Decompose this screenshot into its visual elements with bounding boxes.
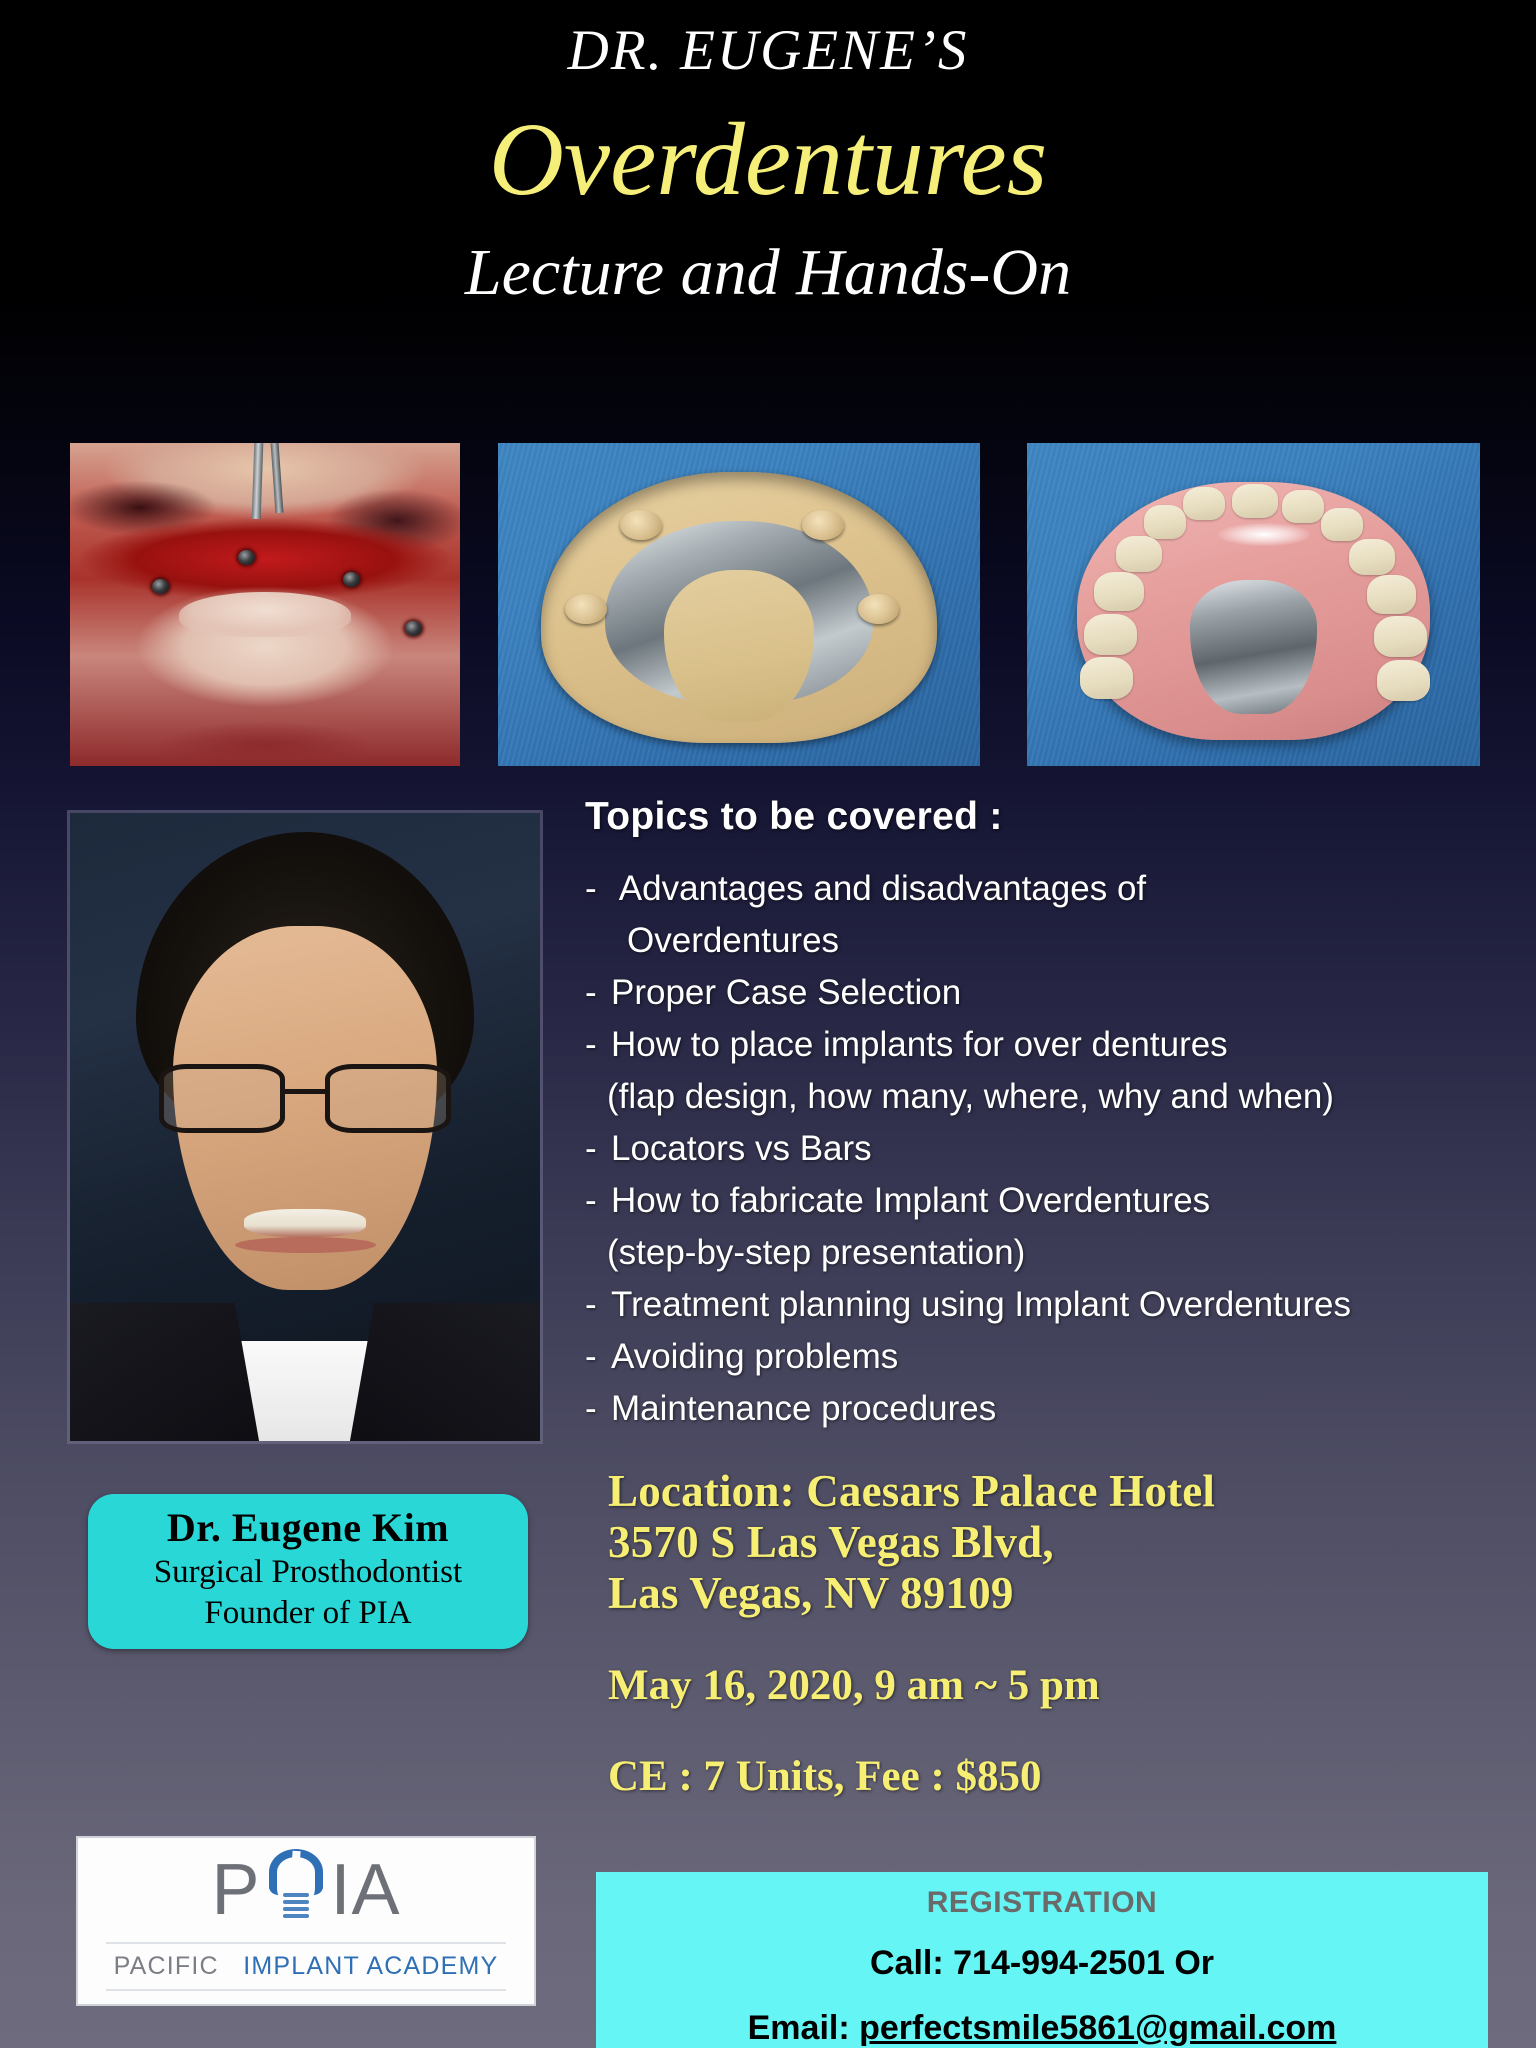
- ce-and-fee: CE : 7 Units, Fee : $850: [608, 1752, 1508, 1801]
- topic-dash: -: [585, 1019, 611, 1071]
- logo-letters-ia: IA: [331, 1854, 401, 1926]
- denture-tooth: [1094, 572, 1143, 611]
- topics-heading: Topics to be covered :: [585, 795, 1505, 839]
- denture-tooth: [1080, 657, 1133, 698]
- topic-label: Locators vs Bars: [611, 1129, 872, 1168]
- topic-dash: -: [585, 967, 611, 1019]
- topic-dash: -: [585, 1175, 611, 1227]
- denture-tooth: [1367, 575, 1416, 614]
- topic-label: Avoiding problems: [611, 1337, 898, 1376]
- implant-head-icon: [343, 572, 360, 587]
- topic-item: Overdentures: [585, 915, 1505, 967]
- implant-head-icon: [238, 550, 255, 565]
- jacket-left: [70, 1303, 262, 1441]
- overdenture-acrylic-base: [1077, 482, 1430, 740]
- blue-drape-background: [498, 443, 980, 766]
- locator-abutment-icon: [858, 594, 899, 624]
- cast-lingual-area: [664, 570, 814, 722]
- denture-tooth: [1084, 614, 1137, 655]
- pia-logo: P IA PACIFIC IMPLANT ACADEMY: [76, 1836, 536, 2006]
- locator-abutment-icon: [620, 510, 661, 540]
- location-line-3: Las Vegas, NV 89109: [608, 1568, 1508, 1619]
- or-label: Or: [1165, 1944, 1214, 1982]
- call-label: Call:: [870, 1944, 953, 1982]
- retractor-instrument-icon: [270, 443, 283, 513]
- retractor-instrument-icon: [252, 443, 264, 519]
- blue-drape-background: [1027, 443, 1480, 766]
- denture-tooth: [1232, 484, 1278, 518]
- topic-dash: -: [585, 863, 611, 915]
- surgical-photo-content: [70, 443, 460, 766]
- overdenture-metal-framework: [1190, 580, 1317, 714]
- topic-label: (step-by-step presentation): [607, 1233, 1025, 1272]
- logo-letter-p: P: [211, 1854, 260, 1926]
- logo-divider-bottom: [106, 1989, 506, 1991]
- topic-item: (step-by-step presentation): [585, 1227, 1505, 1279]
- event-datetime: May 16, 2020, 9 am ~ 5 pm: [608, 1661, 1508, 1710]
- email-label: Email:: [748, 2009, 859, 2047]
- finished-implant-overdenture-photo: [1027, 443, 1480, 766]
- presenter-name: Dr. Eugene Kim: [88, 1504, 528, 1552]
- denture-tooth: [1321, 508, 1363, 542]
- topic-item: -Treatment planning using Implant Overde…: [585, 1279, 1505, 1331]
- logo-subtitle-pacific: PACIFIC: [114, 1952, 219, 1980]
- topic-label: Advantages and disadvantages of: [611, 869, 1146, 908]
- topic-label: How to fabricate Implant Overdentures: [611, 1181, 1210, 1220]
- implant-head-icon: [405, 621, 422, 636]
- lens-left: [159, 1064, 284, 1133]
- flyer-poster: DR. EUGENE’S Overdentures Lecture and Ha…: [0, 0, 1536, 2048]
- registration-box: REGISTRATION Call: 714-994-2501 Or Email…: [596, 1872, 1488, 2048]
- logo-subtitle: PACIFIC IMPLANT ACADEMY: [78, 1952, 534, 1981]
- photo-glare: [1218, 523, 1310, 546]
- tooth-implant-icon: [265, 1849, 327, 1931]
- topic-dash: -: [585, 1279, 611, 1331]
- registration-phone-line: Call: 714-994-2501 Or: [596, 1944, 1488, 1983]
- topic-label: Overdentures: [627, 921, 839, 960]
- logo-divider: [106, 1942, 506, 1944]
- lower-lip: [235, 1237, 376, 1253]
- topic-dash: -: [585, 1123, 611, 1175]
- topic-label: How to place implants for over dentures: [611, 1025, 1228, 1064]
- registration-title: REGISTRATION: [596, 1872, 1488, 1920]
- denture-tooth: [1374, 616, 1427, 657]
- surgical-implant-placement-photo: [70, 443, 460, 766]
- page-title: Overdentures: [0, 105, 1536, 214]
- implant-screw-threads: [283, 1893, 309, 1927]
- jacket-right: [348, 1303, 540, 1441]
- glasses-bridge: [285, 1089, 326, 1094]
- logo-wordmark: P IA: [78, 1838, 534, 1942]
- denture-tooth: [1377, 660, 1430, 701]
- topic-label: Treatment planning using Implant Overden…: [611, 1285, 1351, 1324]
- tooth-notch: [291, 1851, 300, 1870]
- presenter-role: Founder of PIA: [88, 1593, 528, 1634]
- locator-abutment-icon: [802, 510, 843, 540]
- topic-label: Maintenance procedures: [611, 1389, 996, 1428]
- topic-dash: -: [585, 1331, 611, 1383]
- lens-right: [325, 1064, 450, 1133]
- topic-item: -Proper Case Selection: [585, 967, 1505, 1019]
- logo-subtitle-implant-academy: IMPLANT ACADEMY: [243, 1952, 498, 1980]
- registration-email-line: Email: perfectsmile5861@gmail.com: [596, 2009, 1488, 2048]
- denture-tooth: [1349, 539, 1395, 575]
- poster-header: DR. EUGENE’S Overdentures Lecture and Ha…: [0, 0, 1536, 306]
- location-line-1: Location: Caesars Palace Hotel: [608, 1466, 1508, 1517]
- portrait-background: [70, 813, 540, 1441]
- header-subtitle: Lecture and Hands-On: [0, 240, 1536, 306]
- dr-eugene-kim-portrait: [70, 813, 540, 1441]
- eyeglasses-icon: [159, 1064, 450, 1133]
- smile-region: [244, 1209, 366, 1237]
- topic-item: -Locators vs Bars: [585, 1123, 1505, 1175]
- topic-item: (flap design, how many, where, why and w…: [585, 1071, 1505, 1123]
- event-details: Location: Caesars Palace Hotel 3570 S La…: [608, 1466, 1508, 1801]
- denture-tooth: [1183, 487, 1225, 521]
- presenter-title: Surgical Prosthodontist: [88, 1552, 528, 1593]
- phone-number[interactable]: 714-994-2501: [953, 1944, 1165, 1982]
- header-kicker: DR. EUGENE’S: [0, 22, 1536, 79]
- cast-with-metal-framework-photo: [498, 443, 980, 766]
- topic-label: Proper Case Selection: [611, 973, 961, 1012]
- denture-tooth: [1116, 536, 1162, 572]
- implant-head-icon: [152, 579, 169, 594]
- email-address[interactable]: perfectsmile5861@gmail.com: [859, 2009, 1336, 2047]
- topic-item: -Maintenance procedures: [585, 1383, 1505, 1435]
- location-line-2: 3570 S Las Vegas Blvd,: [608, 1517, 1508, 1568]
- topic-item: -Avoiding problems: [585, 1331, 1505, 1383]
- topic-dash: -: [585, 1383, 611, 1435]
- dental-cast: [541, 472, 936, 743]
- topic-item: - Advantages and disadvantages of: [585, 863, 1505, 915]
- denture-tooth: [1282, 490, 1324, 524]
- topic-label: (flap design, how many, where, why and w…: [607, 1077, 1334, 1116]
- presenter-badge: Dr. Eugene Kim Surgical Prosthodontist F…: [88, 1494, 528, 1649]
- alveolar-ridge-region: [179, 592, 351, 637]
- topic-item: -How to fabricate Implant Overdentures: [585, 1175, 1505, 1227]
- denture-tooth: [1144, 505, 1186, 539]
- topic-item: -How to place implants for over dentures: [585, 1019, 1505, 1071]
- locator-abutment-icon: [565, 594, 606, 624]
- topics-section: Topics to be covered : - Advantages and …: [585, 795, 1505, 1435]
